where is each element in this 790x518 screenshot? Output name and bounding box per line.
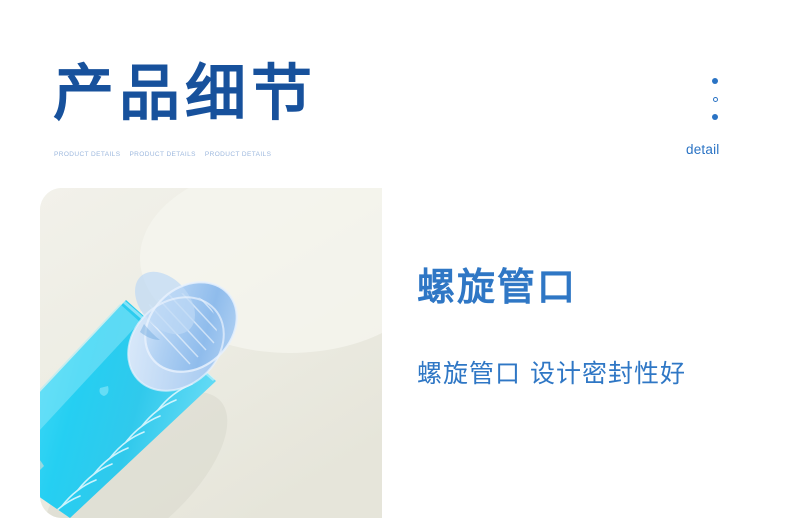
dot-filled-top-icon <box>712 78 718 84</box>
dot-filled-bottom-icon <box>712 114 718 120</box>
product-detail-page: 产品细节 PRODUCT DETAILS PRODUCT DETAILS PRO… <box>0 0 790 516</box>
feature-heading: 螺旋管口 <box>417 263 577 311</box>
detail-link[interactable]: detail <box>686 141 719 158</box>
page-header: 产品细节 PRODUCT DETAILS PRODUCT DETAILS PRO… <box>0 0 790 185</box>
page-title: 产品细节 <box>53 58 317 130</box>
product-photo <box>40 188 382 518</box>
feature-description: 螺旋管口 设计密封性好 <box>417 357 686 391</box>
dot-hollow-middle-icon <box>713 97 718 102</box>
eyebrow-text-3: PRODUCT DETAILS <box>205 150 271 159</box>
eyebrow-text-row: PRODUCT DETAILS PRODUCT DETAILS PRODUCT … <box>54 150 271 159</box>
eyebrow-text-2: PRODUCT DETAILS <box>129 150 195 159</box>
eyebrow-text-1: PRODUCT DETAILS <box>54 150 120 159</box>
product-photo-illustration <box>40 188 382 518</box>
decorative-dots-group <box>709 78 721 120</box>
